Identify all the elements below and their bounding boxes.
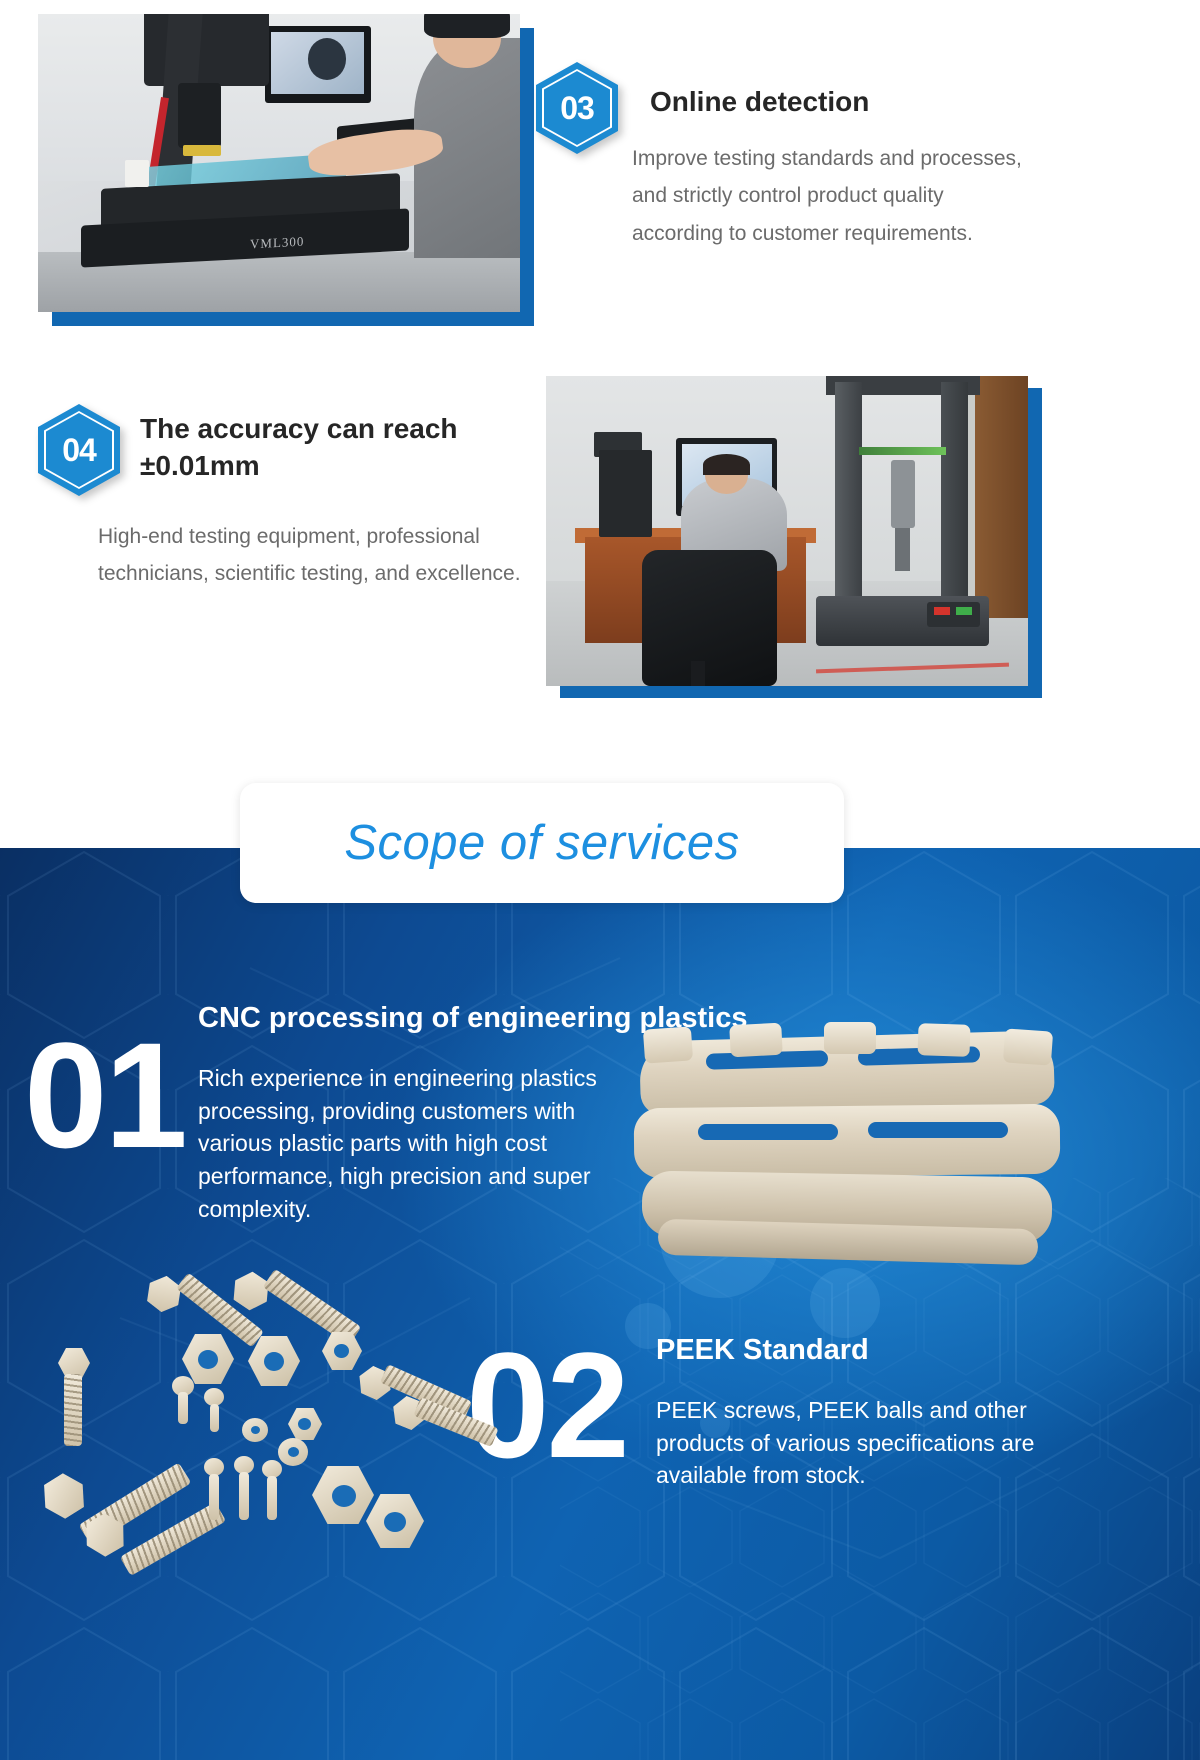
feature-title-03: Online detection bbox=[650, 84, 1070, 121]
feature-body-03: Improve testing standards and processes,… bbox=[632, 140, 1024, 252]
machine-model-label: VML300 bbox=[250, 233, 304, 252]
service-number-01: 01 bbox=[24, 1020, 185, 1170]
service-title-02: PEEK Standard bbox=[656, 1334, 1076, 1367]
photo-accent-bottom bbox=[52, 312, 534, 326]
feature-number-04: 04 bbox=[38, 404, 120, 496]
photo-accent-bottom bbox=[560, 686, 1042, 698]
peek-screws-and-nuts-image bbox=[36, 1270, 506, 1560]
photo-accent-right bbox=[1028, 388, 1042, 698]
feature-body-04: High-end testing equipment, professional… bbox=[98, 518, 528, 593]
feature-badge-03: 03 bbox=[536, 62, 618, 154]
feature-title-04: The accuracy can reach ±0.01mm bbox=[140, 411, 490, 485]
photo-accent-right bbox=[520, 28, 534, 326]
scope-title-card: Scope of services bbox=[240, 783, 844, 903]
online-detection-photo-frame: VML300 bbox=[38, 14, 520, 312]
feature-badge-04: 04 bbox=[38, 404, 120, 496]
feature-number-03: 03 bbox=[536, 62, 618, 154]
scope-heading: Scope of services bbox=[344, 815, 739, 871]
peek-chain-track-part-image bbox=[632, 1028, 1062, 1268]
service-body-01: Rich experience in engineering plastics … bbox=[198, 1062, 634, 1225]
accuracy-photo-frame bbox=[546, 376, 1028, 686]
online-detection-photo: VML300 bbox=[38, 14, 520, 312]
features-section: VML300 03 Online detection Improve testi… bbox=[0, 0, 1200, 848]
accuracy-photo bbox=[546, 376, 1028, 686]
service-body-02: PEEK screws, PEEK balls and other produc… bbox=[656, 1394, 1056, 1492]
